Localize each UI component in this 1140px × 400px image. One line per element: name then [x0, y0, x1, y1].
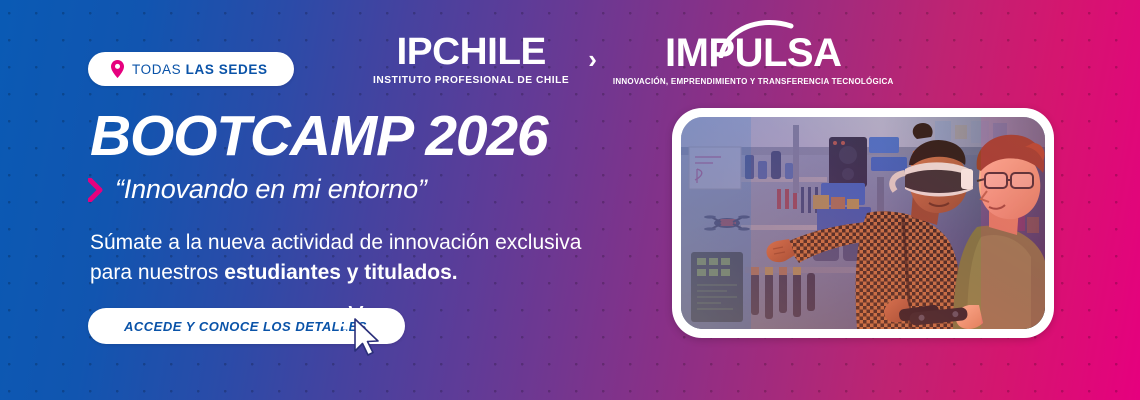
impulsa-wordmark: IMPULSA [665, 34, 842, 72]
body-line-1: Súmate a la nueva actividad de innovació… [90, 231, 581, 254]
badge-text-bold: LAS SEDES [186, 62, 268, 77]
locations-badge-label: TODAS LAS SEDES [132, 62, 268, 77]
ipchile-logo: IPCHILE INSTITUTO PROFESIONAL DE CHILE [370, 34, 572, 86]
chevron-right-icon [88, 178, 103, 202]
chevron-separator-icon: › [588, 46, 597, 72]
subtitle: “Innovando en mi entorno” [115, 174, 427, 205]
cta-button[interactable]: ACCEDE Y CONOCE LOS DETALLES [88, 308, 405, 344]
ipchile-wordmark: IPCHILE [396, 34, 545, 70]
headline: BOOTCAMP 2026 [90, 108, 547, 165]
cta-button-label: ACCEDE Y CONOCE LOS DETALLES [124, 319, 367, 334]
promo-banner: TODAS LAS SEDES IPCHILE INSTITUTO PROFES… [0, 0, 1140, 400]
impulsa-tagline: INNOVACIÓN, EMPRENDIMIENTO Y TRANSFERENC… [613, 77, 894, 86]
body-line-2-regular: para nuestros [90, 261, 224, 284]
locations-badge[interactable]: TODAS LAS SEDES [88, 52, 294, 86]
logo-lockup: IPCHILE INSTITUTO PROFESIONAL DE CHILE ›… [370, 34, 894, 86]
ipchile-tagline: INSTITUTO PROFESIONAL DE CHILE [373, 74, 569, 86]
impulsa-logo: IMPULSA INNOVACIÓN, EMPRENDIMIENTO Y TRA… [613, 34, 894, 86]
body-line-2: para nuestros estudiantes y titulados. [90, 258, 635, 288]
location-pin-icon [110, 60, 125, 78]
photo-image [681, 117, 1045, 329]
body-line-2-bold: estudiantes y titulados. [224, 261, 457, 284]
photo-illustration [681, 117, 1045, 329]
photo-panel [672, 108, 1054, 338]
badge-text-regular: TODAS [132, 62, 186, 77]
body-copy: Súmate a la nueva actividad de innovació… [90, 228, 635, 288]
subtitle-row: “Innovando en mi entorno” [88, 174, 427, 205]
